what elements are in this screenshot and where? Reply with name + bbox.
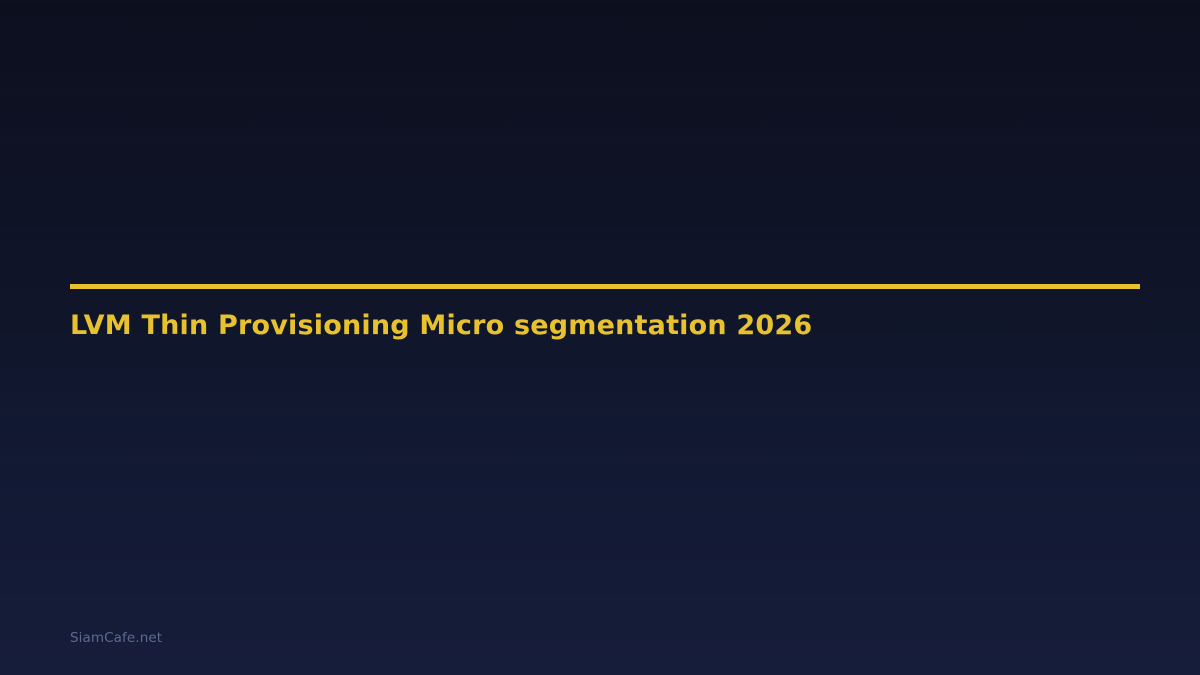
- slide-canvas: LVM Thin Provisioning Micro segmentation…: [0, 0, 1200, 675]
- page-title: LVM Thin Provisioning Micro segmentation…: [70, 289, 1140, 343]
- title-block: LVM Thin Provisioning Micro segmentation…: [70, 284, 1140, 343]
- footer-watermark: SiamCafe.net: [70, 629, 162, 647]
